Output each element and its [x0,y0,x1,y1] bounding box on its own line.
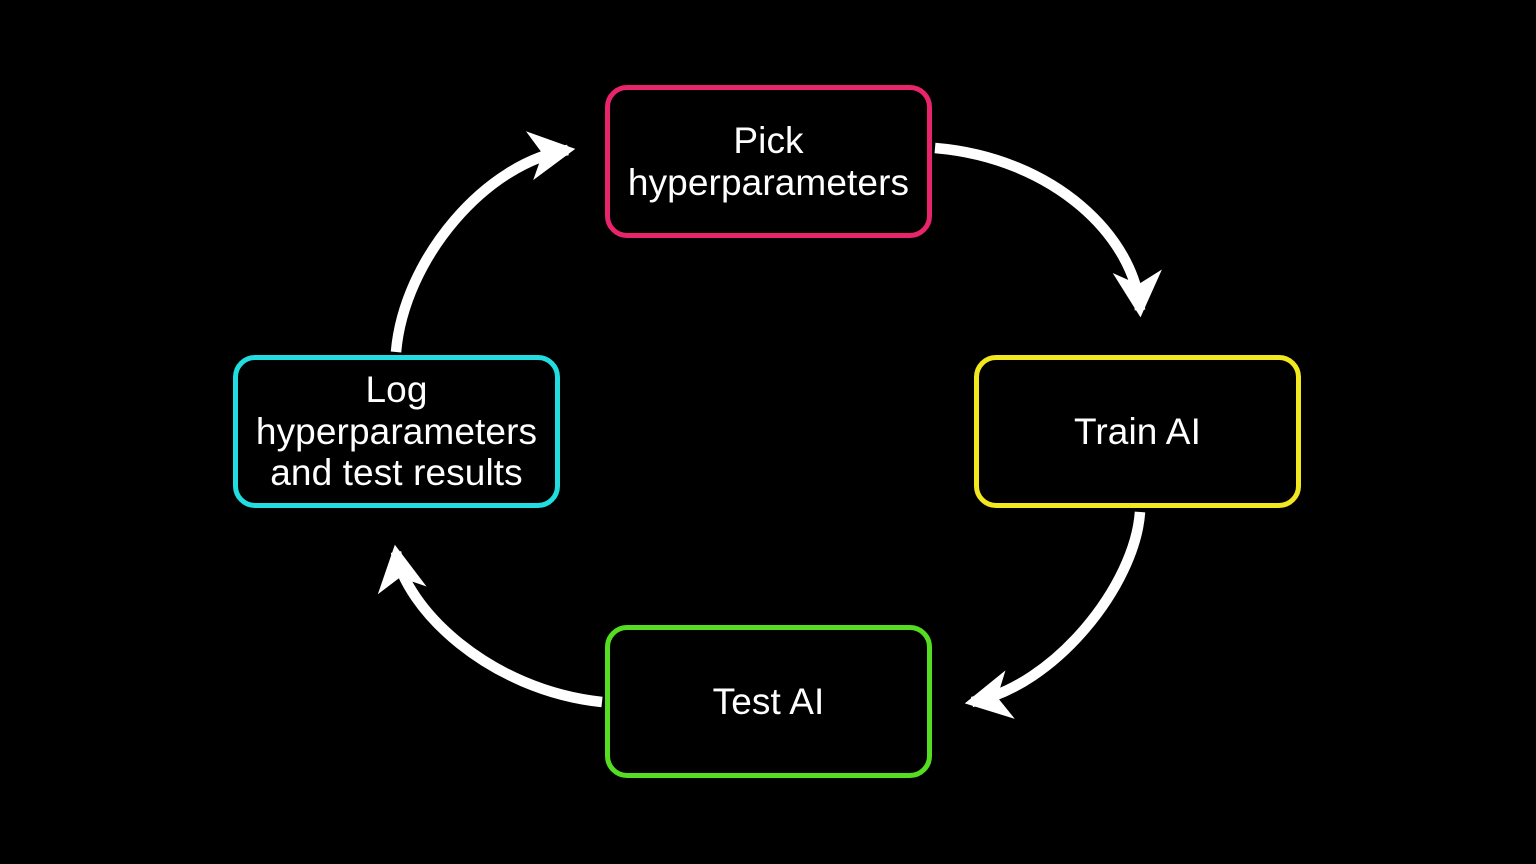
edge-test-to-log [396,552,602,702]
node-pick-hyperparameters-label: Pick hyperparameters [618,120,919,203]
node-pick-hyperparameters[interactable]: Pick hyperparameters [605,85,932,238]
node-train-ai-label: Train AI [1064,411,1211,452]
node-train-ai[interactable]: Train AI [974,355,1301,508]
edge-pick-to-train [935,148,1140,310]
node-log-hyperparameters-and-test-results[interactable]: Log hyperparameters and test results [233,355,560,508]
node-log-hyperparameters-and-test-results-label: Log hyperparameters and test results [246,369,547,493]
node-test-ai-label: Test AI [703,681,835,722]
diagram-canvas: Pick hyperparameters Train AI Test AI Lo… [0,0,1536,864]
node-test-ai[interactable]: Test AI [605,625,932,778]
edge-log-to-pick [396,150,568,352]
edge-train-to-test [972,512,1140,702]
